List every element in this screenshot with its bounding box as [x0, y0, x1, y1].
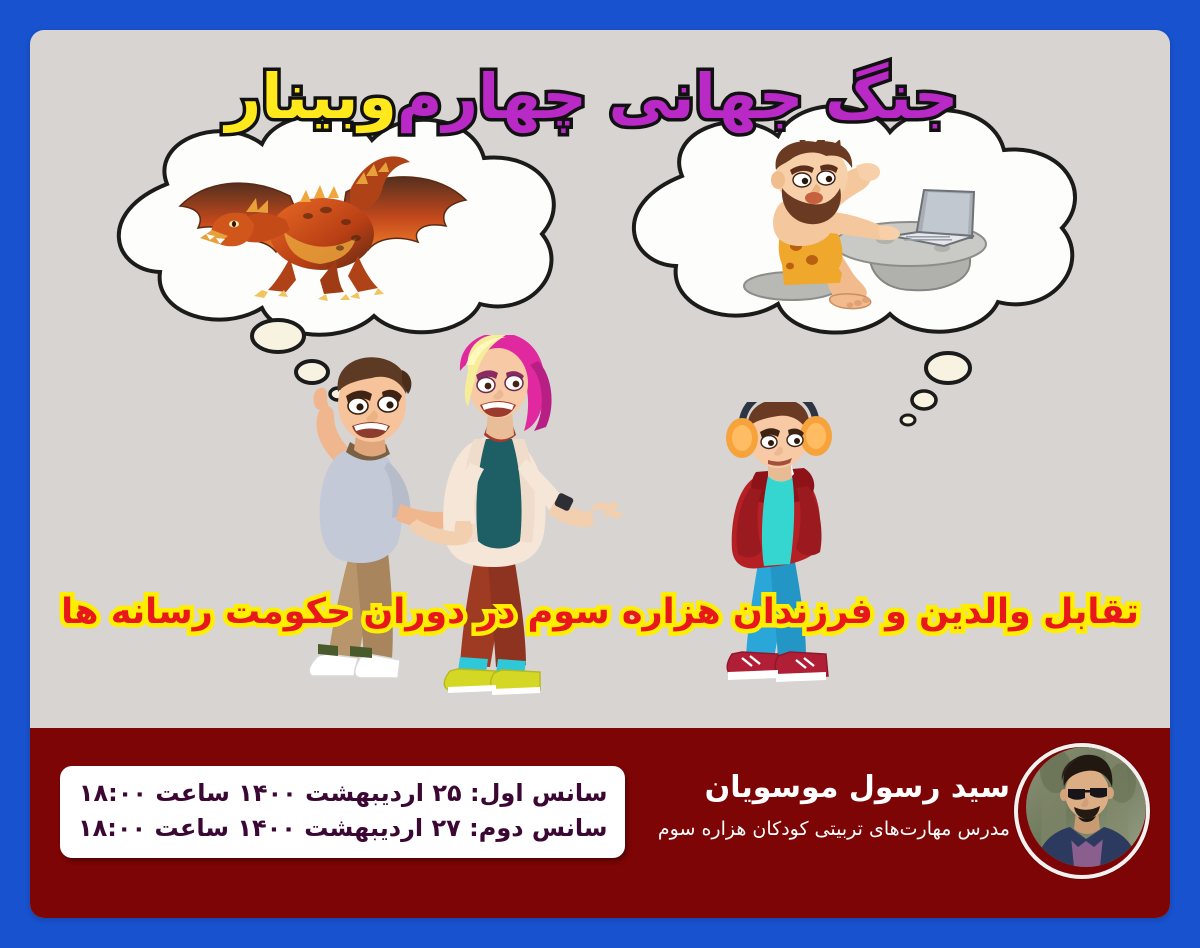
caveman-illustration — [720, 140, 1020, 325]
title-main-text: جنگ جهانی چهارم — [397, 64, 959, 129]
session-one: سانس اول: ۲۵ اردیبهشت ۱۴۰۰ ساعت ۱۸:۰۰ — [78, 776, 607, 811]
poster-panel: جنگ جهانی چهارموبینار — [30, 30, 1170, 918]
poster-title: جنگ جهانی چهارموبینار — [30, 64, 1170, 129]
angry-mother-illustration — [410, 335, 630, 705]
subtitle-text: تقابل والدین و فرزندان هزاره سوم در دورا… — [61, 592, 1139, 632]
session-times-box: سانس اول: ۲۵ اردیبهشت ۱۴۰۰ ساعت ۱۸:۰۰ سا… — [60, 766, 625, 858]
presenter-name: سید رسول موسویان — [658, 768, 1010, 807]
presenter-role: مدرس مهارت‌های تربیتی کودکان هزاره سوم — [658, 817, 1010, 842]
poster-root: جنگ جهانی چهارموبینار — [0, 0, 1200, 948]
poster-footer: سانس اول: ۲۵ اردیبهشت ۱۴۰۰ ساعت ۱۸:۰۰ سا… — [30, 728, 1170, 918]
poster-subtitle: تقابل والدین و فرزندان هزاره سوم در دورا… — [30, 592, 1170, 632]
teen-son-illustration — [698, 402, 888, 702]
presenter-avatar — [1014, 743, 1150, 879]
session-two: سانس دوم: ۲۷ اردیبهشت ۱۴۰۰ ساعت ۱۸:۰۰ — [78, 811, 607, 846]
presenter-info: سید رسول موسویان مدرس مهارت‌های تربیتی ک… — [658, 768, 1010, 842]
caveman-bubble-trail — [890, 348, 1020, 438]
title-highlight-text: وبینار — [226, 64, 397, 129]
dragon-illustration — [150, 148, 480, 308]
